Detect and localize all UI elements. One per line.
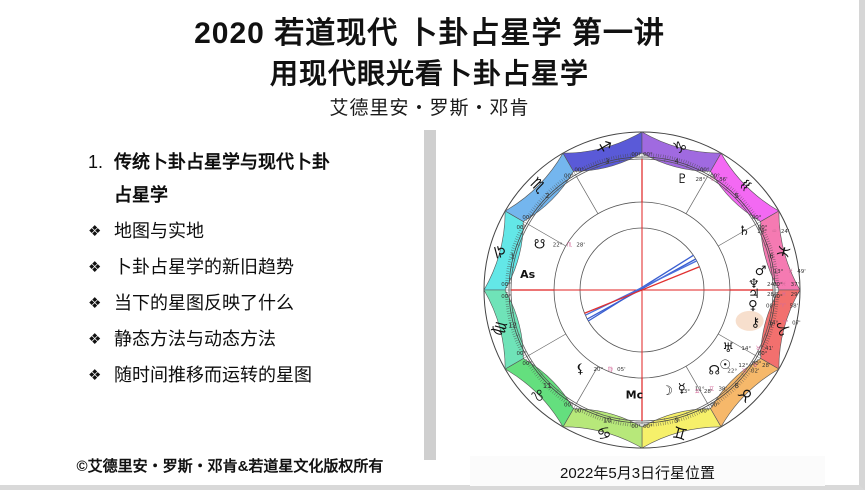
planet-sign: ♉ (756, 345, 761, 352)
page-subtitle: 艾德里安・罗斯・邓肯 (0, 93, 859, 120)
cusp-degree-label: 00° (522, 361, 532, 367)
planet-sign: ♉ (742, 367, 747, 374)
planet-sign: ♓ (781, 281, 786, 288)
planet-glyph-moon: ☽ (661, 384, 673, 399)
house-number: 4 (674, 158, 679, 166)
planet-minute: 29' (791, 292, 800, 298)
planet-minute: 24' (781, 229, 790, 235)
cusp-degree-label: 00° (643, 152, 653, 158)
chart-caption: 2022年5月3日行星位置 (560, 462, 840, 483)
cusp-degree-label: 00° (501, 294, 511, 300)
list-item-label: 传统卜卦占星学与现代卜卦 (114, 146, 418, 179)
cusp-degree-label: 00° (700, 167, 710, 173)
cusp-degree-label: 00° (522, 215, 532, 221)
list-item: ❖ 随时间推移而运转的星图 (88, 359, 418, 392)
planet-glyph-saturn: ♄ (738, 224, 750, 239)
list-item: ❖ 地图与实地 (88, 215, 418, 248)
planet-sign: ♈ (780, 303, 786, 310)
planet-degree: 24° (767, 282, 777, 288)
cusp-degree-label: 00° (574, 167, 584, 173)
diamond-bullet-icon: ❖ (88, 287, 114, 320)
planet-degree: 22° (727, 368, 737, 374)
planet-degree: 20° (594, 367, 604, 373)
list-item-numbered-continuation: 占星学 (88, 179, 418, 212)
list-item-label-cont: 占星学 (114, 179, 418, 212)
cusp-degree-label: 00° (564, 173, 574, 179)
planet-minute: 58' (790, 304, 799, 310)
planet-minute: 37' (791, 282, 800, 288)
vertical-divider (424, 130, 436, 460)
planet-sign: ♊ (694, 388, 699, 395)
house-number: 11 (543, 382, 552, 390)
house-number: 2 (545, 192, 549, 200)
slide-canvas: 2020 若道现代 卜卦占星学 第一讲 用现代眼光看卜卦占星学 艾德里安・罗斯・… (0, 0, 865, 490)
cusp-degree-label: 00° (501, 282, 511, 288)
planet-sign: ♏ (567, 241, 573, 248)
planet-minute: 28' (704, 389, 713, 395)
house-number: 3 (605, 158, 609, 166)
diamond-bullet-icon: ❖ (88, 359, 114, 392)
planet-degree: 22° (553, 242, 563, 248)
planet-minute: 05' (617, 367, 626, 373)
list-item-label: 地图与实地 (114, 215, 418, 248)
list-marker-number: 1. (88, 146, 114, 179)
cusp-degree-label: 00° (643, 424, 653, 430)
planet-minute: 07' (792, 321, 801, 327)
house-number: 10 (603, 416, 612, 424)
planet-minute: 28' (576, 242, 585, 248)
list-item-label: 静态方法与动态方法 (114, 323, 418, 356)
cusp-degree-label: 00° (710, 403, 720, 409)
planet-degree: 13° (774, 269, 784, 275)
cusp-degree-label: 00° (574, 409, 584, 415)
diamond-bullet-icon: ❖ (88, 251, 114, 284)
planet-sign: ♒ (771, 228, 776, 235)
cusp-degree-label: 00° (631, 424, 641, 430)
planet-degree: 28° (695, 177, 705, 183)
diamond-bullet-icon: ❖ (88, 323, 114, 356)
planet-glyph-lilith: ⚸ (576, 362, 586, 377)
house-number: 12 (508, 322, 517, 330)
page-title-line1: 2020 若道现代 卜卦占星学 第一讲 (0, 8, 859, 52)
planet-glyph-uranus: ♅ (722, 341, 734, 356)
planet-degree: 13° (680, 389, 690, 395)
cusp-degree-label: 00° (631, 152, 641, 158)
planet-sign: ♍ (608, 366, 613, 373)
planet-minute: 41' (765, 346, 774, 352)
planet-sign: ♑ (710, 176, 715, 183)
astrology-wheel-svg: ♎♏♐♑♒♓♈♉♊♋♌♍100°00°200°00°300°00°400°00°… (472, 128, 812, 458)
page-title-line2: 用现代眼光看卜卦占星学 (0, 52, 859, 92)
cusp-degree-label: 00° (516, 225, 526, 231)
planet-degree: 24° (757, 229, 767, 235)
cusp-degree-label: 00° (516, 351, 526, 357)
list-item-label: 卜卦占星学的新旧趋势 (114, 251, 418, 284)
list-item-label: 随时间推移而运转的星图 (114, 359, 418, 392)
house-number: 5 (735, 192, 739, 200)
house-number: 8 (735, 382, 739, 390)
list-item: ❖ 当下的星图反映了什么 (88, 287, 418, 320)
list-item-label: 当下的星图反映了什么 (114, 287, 418, 320)
planet-degree: 14° (769, 321, 779, 327)
cusp-degree-label: 00° (752, 215, 762, 221)
list-item: ❖ 静态方法与动态方法 (88, 323, 418, 356)
planet-degree: 14° (741, 346, 751, 352)
planet-glyph-pluto: ♇ (677, 172, 689, 187)
house-number: 6 (769, 252, 774, 260)
planet-sign: ♈ (783, 320, 789, 327)
cusp-degree-label: 00° (700, 409, 710, 415)
house-number: 9 (674, 416, 678, 424)
house-number: 1 (510, 252, 514, 260)
angle-label-as: As (520, 268, 536, 281)
planet-minute: 38' (718, 386, 727, 392)
planet-minute: 49' (797, 269, 806, 275)
planet-degree: 28° (767, 292, 777, 298)
diamond-bullet-icon: ❖ (88, 215, 114, 248)
list-item-numbered: 1. 传统卜卦占星学与现代卜卦 (88, 146, 418, 179)
planet-degree: 00° (766, 304, 776, 310)
planet-glyph-south-node: ☋ (534, 237, 546, 252)
planet-minute: 02' (751, 368, 760, 374)
planet-sign: ♓ (788, 268, 793, 275)
planet-glyph-chiron: ⚷ (751, 316, 761, 331)
planet-glyph-north-node: ☊ (708, 363, 720, 378)
astrology-chart: ♎♏♐♑♒♓♈♉♊♋♌♍100°00°200°00°300°00°400°00°… (472, 128, 812, 458)
planet-minute: 36' (719, 177, 728, 183)
planet-sign: ♓ (781, 291, 786, 298)
copyright-footer: ©艾德里安・罗斯・邓肯&若道星文化版权所有 (30, 455, 430, 476)
list-item: ❖ 卜卦占星学的新旧趋势 (88, 251, 418, 284)
cusp-degree-label: 00° (564, 403, 574, 409)
planet-minute: 28' (762, 363, 771, 369)
angle-label-mc: Mc (626, 389, 643, 402)
outline-list: 1. 传统卜卦占星学与现代卜卦 占星学 ❖ 地图与实地 ❖ 卜卦占星学的新旧趋势… (88, 146, 418, 392)
planet-glyph-venus: ♀ (748, 299, 758, 314)
